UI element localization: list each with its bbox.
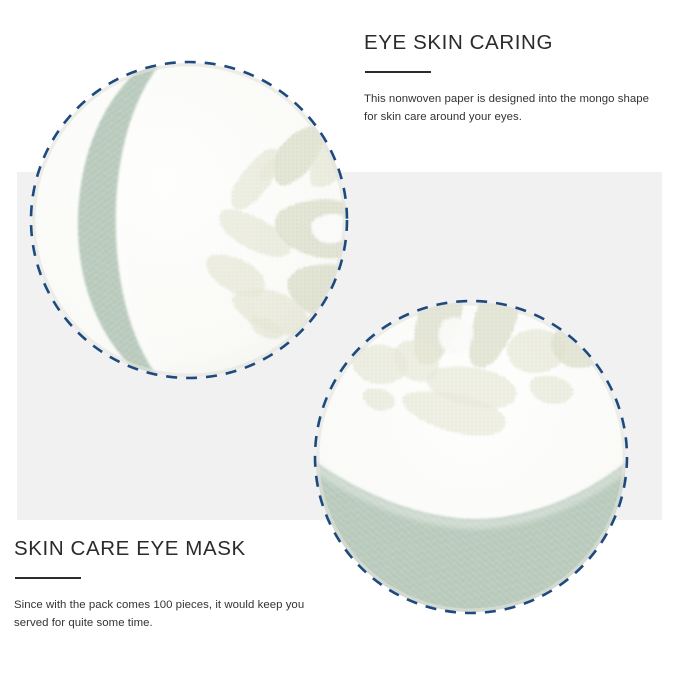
eye-mask-pad-closeup-bottom-right (311, 297, 631, 617)
copy-block-bottom: SKIN CARE EYE MASK Since with the pack c… (14, 536, 334, 633)
copy-block-top: EYE SKIN CARING This nonwoven paper is d… (364, 30, 664, 127)
headline-rule-bottom (15, 577, 81, 579)
headline-rule-top (365, 71, 431, 73)
headline-eye-skin-caring: EYE SKIN CARING (364, 30, 664, 56)
product-infographic: EYE SKIN CARING This nonwoven paper is d… (0, 0, 679, 679)
body-copy-bottom: Since with the pack comes 100 pieces, it… (14, 596, 334, 633)
body-copy-top: This nonwoven paper is designed into the… (364, 90, 664, 127)
headline-skin-care-eye-mask: SKIN CARE EYE MASK (14, 536, 334, 562)
eye-mask-pad-closeup-top-left (28, 59, 350, 381)
